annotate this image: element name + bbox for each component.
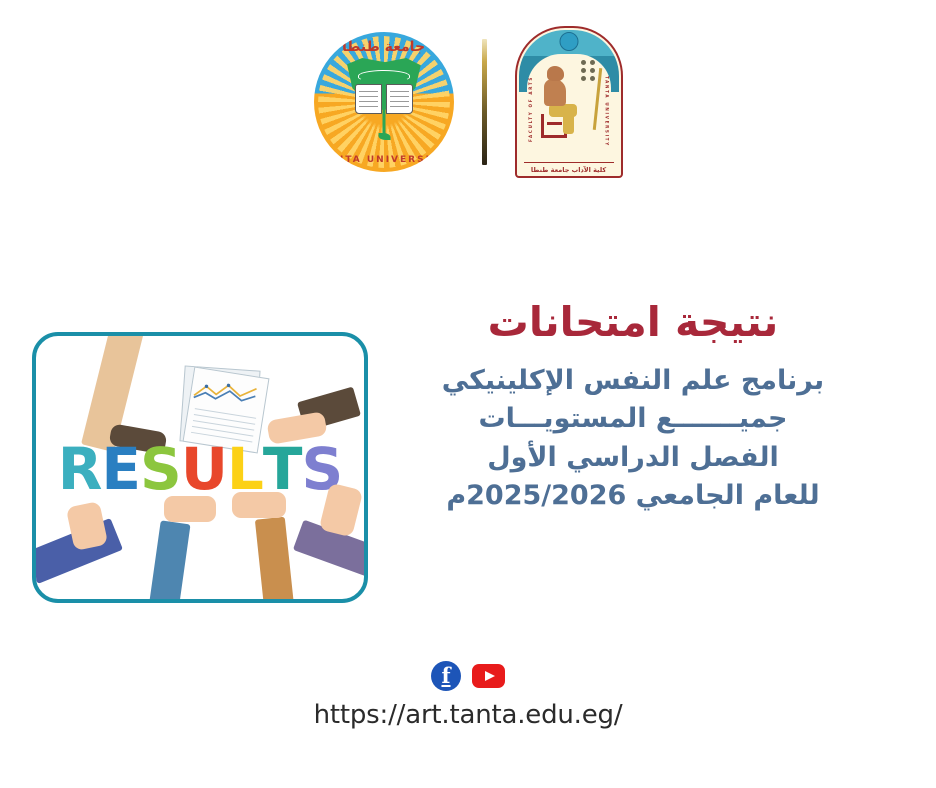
website-url[interactable]: https://art.tanta.edu.eg/: [0, 700, 936, 730]
faculty-of-arts-crest-icon: FACULTY OF ARTS TANTA UNIVERSITY كلية ال…: [515, 26, 623, 178]
chair-bar-shape: [547, 122, 562, 125]
sleeve-bottom-center-right: [255, 517, 295, 603]
open-book-icon: [355, 84, 413, 114]
facebook-icon[interactable]: f: [431, 661, 461, 691]
scribe-head-shape: [547, 66, 564, 81]
seated-scribe-icon: [541, 66, 581, 138]
hand-bottom-center-right: [232, 492, 286, 518]
book-page-left: [355, 84, 382, 114]
header-logo-bar: FACULTY OF ARTS TANTA UNIVERSITY كلية ال…: [0, 22, 936, 182]
chart-graphic-icon: [191, 376, 259, 412]
results-letter-3: U: [181, 440, 227, 498]
youtube-icon[interactable]: [472, 664, 505, 688]
announcement-line-2: الفصل الدراسي الأول: [398, 439, 868, 477]
crest-sun-disc-icon: [559, 32, 578, 51]
announcement-text-block: نتيجة امتحانات برنامج علم النفس الإكليني…: [398, 300, 868, 515]
seal-arabic-name: جامعة طنطا: [314, 39, 454, 55]
results-letter-5: T: [263, 440, 302, 498]
hand-bottom-center-left: [164, 496, 216, 522]
crest-left-text: FACULTY OF ARTS: [528, 76, 533, 142]
book-page-right: [386, 84, 413, 114]
vertical-divider-icon: [482, 39, 487, 165]
seal-latin-name: TANTA UNIVERSITY: [314, 155, 454, 165]
results-letter-2: S: [140, 440, 181, 498]
tanta-university-seal-icon: جامعة طنطا TANTA UNIVERSITY: [314, 32, 454, 172]
results-letter-0: R: [58, 440, 102, 498]
crest-divider-rule: [524, 162, 614, 164]
page-title: نتيجة امتحانات: [398, 300, 868, 346]
scribe-torso-shape: [544, 79, 566, 106]
results-word: RESULTS: [36, 440, 364, 498]
announcement-line-0: برنامج علم النفس الإكلينيكي: [398, 362, 868, 400]
scribe-shin-shape: [563, 112, 574, 134]
hieroglyph-icon: [579, 60, 595, 82]
delta-river-line: [358, 70, 410, 82]
crest-caption-arabic: كلية الآداب جامعة طنطا: [515, 166, 623, 174]
results-illustration-card: RESULTS: [32, 332, 368, 603]
results-illustration: RESULTS: [36, 336, 364, 599]
social-links-row: f: [0, 661, 936, 691]
sleeve-bottom-center-left: [147, 520, 190, 603]
announcement-line-1: جميـــــــع المستويـــات: [398, 400, 868, 438]
crest-right-text: TANTA UNIVERSITY: [605, 76, 610, 147]
announcement-line-3: للعام الجامعي 2025/2026م: [398, 477, 868, 515]
results-letter-4: L: [227, 440, 263, 498]
results-letter-1: E: [101, 440, 140, 498]
